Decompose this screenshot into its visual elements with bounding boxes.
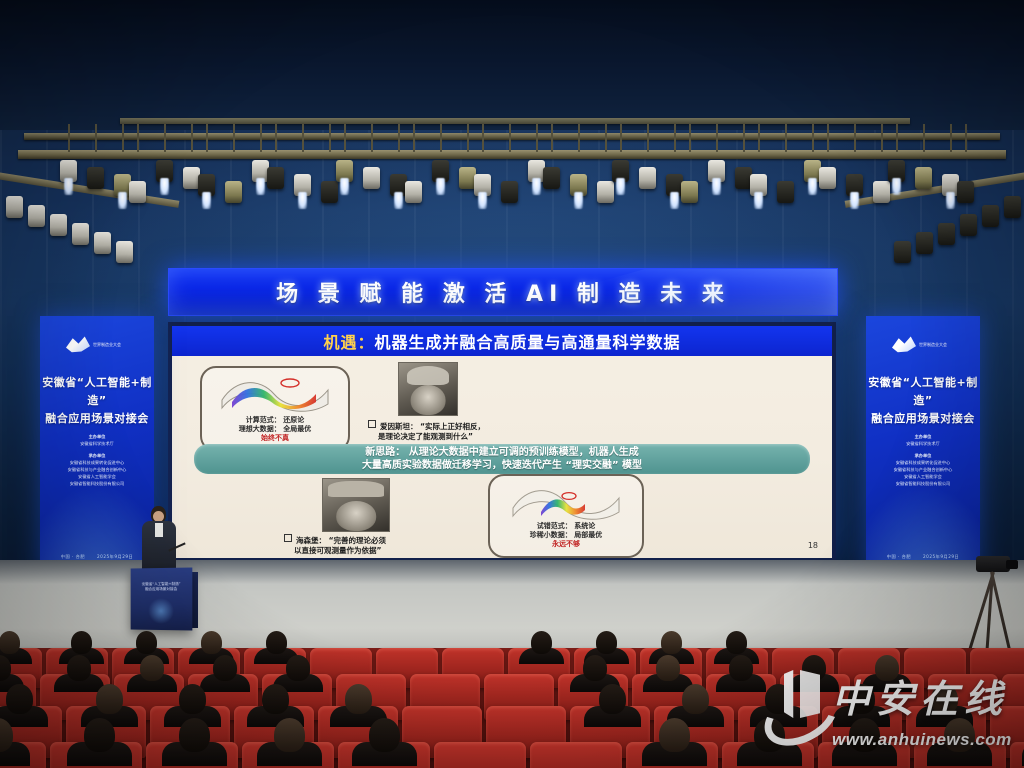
side-banner-title-line1: 安徽省“人工智能+制造” xyxy=(42,376,151,407)
led-headline-banner: 场 景 赋 能 激 活 AI 制 造 未 来 xyxy=(168,268,838,316)
stage-light xyxy=(597,181,614,203)
heisenberg-quote: 海森堡： “完善的理论必须 以直接可观测量作为依据” xyxy=(284,534,504,556)
trial-error-paradigm-box: 试错范式： 系统论 珍稀小数据： 局部最优 永远不够 xyxy=(488,474,644,558)
lamp-hanger xyxy=(620,124,622,152)
stage-light-beam xyxy=(160,178,169,195)
stage-light xyxy=(321,181,338,203)
stage-light xyxy=(87,167,104,189)
audience-member xyxy=(179,718,210,752)
conference-stage-photo: 场 景 赋 能 激 活 AI 制 造 未 来 机遇：机器生成并融合高质量与高通量… xyxy=(0,0,1024,768)
organizer-3: 安徽省人工智能学会 xyxy=(904,474,942,479)
computation-caption-1: 计算范式： 还原论 xyxy=(202,416,348,425)
lamp-hanger xyxy=(605,124,607,152)
theater-seat xyxy=(530,742,622,768)
audience-member xyxy=(140,655,164,681)
bullet-square-icon xyxy=(284,534,292,542)
lamp-hanger xyxy=(950,124,952,152)
audience-member xyxy=(0,631,20,654)
lamp-hanger xyxy=(785,124,787,152)
truss-beam-main xyxy=(18,150,1006,159)
lamp-hanger xyxy=(329,124,331,152)
stage-light xyxy=(819,167,836,189)
stage-light xyxy=(116,241,133,263)
stage-light-beam xyxy=(808,178,817,195)
lamp-hanger xyxy=(398,124,400,152)
conference-logo-icon: 世界制造业大会 xyxy=(66,332,128,356)
stage-light xyxy=(915,167,932,189)
audience-member xyxy=(262,684,289,714)
side-banner-left: 世界制造业大会 安徽省“人工智能+制造” 融合应用场景对接会 主办单位 安徽省科… xyxy=(40,316,154,574)
lamp-hanger xyxy=(467,124,469,152)
audience-member xyxy=(596,631,617,654)
lamp-hanger xyxy=(302,124,304,152)
presentation-slide: 机遇：机器生成并融合高质量与高通量科学数据 计算范式： 还原论 理想大数据： 全… xyxy=(172,326,832,558)
stage-light xyxy=(894,241,911,263)
stage-light xyxy=(777,181,794,203)
logo-subtitle: 世界制造业大会 xyxy=(93,342,121,347)
lamp-hanger xyxy=(716,124,718,152)
lamp-hanger xyxy=(137,124,139,152)
heisenberg-hat xyxy=(328,481,383,497)
side-banner-organizers: 主办单位 安徽省科学技术厅 承办单位 安徽省科技成果转化促进中心 安徽省科技与产… xyxy=(866,428,980,487)
lamp-hanger xyxy=(536,124,538,152)
slide-title: 机遇：机器生成并融合高质量与高通量科学数据 xyxy=(323,329,680,353)
podium-text: 安徽省“人工智能+制造” 融合应用场景对接会 xyxy=(131,582,193,592)
host-name: 安徽省科学技术厅 xyxy=(906,441,940,446)
podium-line2: 融合应用场景对接会 xyxy=(145,587,177,591)
stage-light-beam xyxy=(118,192,127,209)
stage-light-beam xyxy=(202,192,211,209)
trial-caption-3: 永远不够 xyxy=(490,540,642,549)
stage-light-beam xyxy=(298,192,307,209)
side-banner-organizers: 主办单位 安徽省科学技术厅 承办单位 安徽省科技成果转化促进中心 安徽省科技与产… xyxy=(40,428,154,487)
audience-member xyxy=(201,631,222,654)
stage-light-beam xyxy=(754,192,763,209)
stage-light-beam xyxy=(340,178,349,195)
lamp-hanger xyxy=(854,124,856,152)
theater-seat xyxy=(434,742,526,768)
stage-light xyxy=(639,167,656,189)
stage-light-beam xyxy=(946,192,955,209)
logo-mark xyxy=(892,335,916,353)
stage-light xyxy=(916,232,933,254)
podium-line1: 安徽省“人工智能+制造” xyxy=(142,582,181,586)
stage-light xyxy=(72,223,89,245)
podium: 安徽省“人工智能+制造” 融合应用场景对接会 xyxy=(131,567,193,630)
stage-light xyxy=(405,181,422,203)
lamp-hanger xyxy=(275,124,277,152)
computation-caption-3: 始终不真 xyxy=(202,434,348,443)
stage-light xyxy=(960,214,977,236)
lamp-hanger xyxy=(191,124,193,152)
organizer-label: 承办单位 xyxy=(866,452,980,459)
lamp-hanger xyxy=(95,124,97,152)
stage-light-beam xyxy=(256,178,265,195)
stage-light xyxy=(225,181,242,203)
side-banner-title: 安徽省“人工智能+制造” 融合应用场景对接会 xyxy=(40,374,154,428)
rainbow-surface-plot-small-icon xyxy=(507,482,625,524)
organizer-2: 安徽省科技与产业融合创新中心 xyxy=(68,467,127,472)
lamp-hanger xyxy=(827,124,829,152)
lamp-hanger xyxy=(881,124,883,152)
conference-logo-icon: 世界制造业大会 xyxy=(892,332,954,356)
lamp-hanger xyxy=(689,124,691,152)
lamp-hanger xyxy=(578,124,580,152)
stage-light-beam xyxy=(892,178,901,195)
lamp-hanger xyxy=(164,124,166,152)
slide-title-bar: 机遇：机器生成并融合高质量与高通量科学数据 xyxy=(172,326,832,356)
lamp-hanger xyxy=(440,124,442,152)
einstein-quote-line1: 爱因斯坦： “实际上正好相反， xyxy=(380,422,485,431)
audience-member xyxy=(286,655,310,681)
lamp-hanger xyxy=(647,124,649,152)
einstein-quote: 爱因斯坦： “实际上正好相反， 是理论决定了能观测到什么” xyxy=(368,420,618,442)
computation-caption-2: 理想大数据： 全局最优 xyxy=(202,425,348,434)
stage-light-beam xyxy=(478,192,487,209)
lamp-hanger xyxy=(206,124,208,152)
audience-member xyxy=(179,684,206,714)
lamp-hanger xyxy=(812,124,814,152)
audience-member xyxy=(67,655,91,681)
audience-member xyxy=(345,684,372,714)
audience-member xyxy=(661,631,682,654)
heisenberg-face xyxy=(336,501,376,531)
bullet-square-icon xyxy=(368,420,376,428)
einstein-face xyxy=(411,385,446,415)
stage-light-beam xyxy=(850,192,859,209)
host-label: 主办单位 xyxy=(866,433,980,440)
heisenberg-quote-line2: 以直接可观测量作为依据” xyxy=(294,546,381,555)
stage-light-beam xyxy=(64,178,73,195)
audience-member xyxy=(531,631,552,654)
audience-member xyxy=(659,718,690,752)
organizer-label: 承办单位 xyxy=(40,452,154,459)
lamp-hanger xyxy=(896,124,898,152)
watermark-logo-icon xyxy=(762,670,828,730)
lamp-hanger xyxy=(371,124,373,152)
stage-light xyxy=(50,214,67,236)
heisenberg-portrait xyxy=(322,478,390,532)
audience-member xyxy=(729,655,753,681)
lamp-hanger xyxy=(122,124,124,152)
lamp-hanger xyxy=(965,124,967,152)
logo-subtitle: 世界制造业大会 xyxy=(919,342,947,347)
trial-caption-2: 珍稀小数据： 局部最优 xyxy=(490,531,642,540)
side-banner-title-line2: 融合应用场景对接会 xyxy=(45,412,149,425)
rainbow-surface-plot-icon xyxy=(216,374,334,416)
stage-light xyxy=(938,223,955,245)
audience-member xyxy=(726,631,747,654)
audience-member xyxy=(274,718,305,752)
lamp-hanger xyxy=(551,124,553,152)
lamp-hanger xyxy=(509,124,511,152)
logo-mark xyxy=(66,335,90,353)
slide-title-keyword: 机遇： xyxy=(323,333,374,352)
stage-light xyxy=(129,181,146,203)
camera-lens-icon xyxy=(1006,560,1018,569)
audience-member xyxy=(84,718,115,752)
audience-member xyxy=(656,655,680,681)
lamp-hanger xyxy=(260,124,262,152)
stage-light-beam xyxy=(712,178,721,195)
new-approach-line2: 大量高质实验数据做迁移学习，快速迭代产生 “理实交融” 模型 xyxy=(362,460,642,471)
slide-title-rest: 机器生成并融合高质量与高通量科学数据 xyxy=(375,333,681,352)
einstein-portrait xyxy=(398,362,458,416)
podium-emblem xyxy=(148,598,174,624)
stage-light xyxy=(982,205,999,227)
watermark-brand: 中安在线 xyxy=(832,668,1008,723)
organizer-2: 安徽省科技与产业融合创新中心 xyxy=(894,467,953,472)
lamp-hanger xyxy=(413,124,415,152)
watermark: 中安在线 www.anhuinews.com xyxy=(762,668,1008,752)
stage-light xyxy=(957,181,974,203)
side-banner-right: 世界制造业大会 安徽省“人工智能+制造” 融合应用场景对接会 主办单位 安徽省科… xyxy=(866,316,980,574)
watermark-url: www.anhuinews.com xyxy=(832,730,1012,750)
lamp-hanger xyxy=(743,124,745,152)
host-label: 主办单位 xyxy=(40,433,154,440)
speaker-shirt xyxy=(155,523,163,537)
stage-light xyxy=(501,181,518,203)
stage-light-beam xyxy=(394,192,403,209)
slide-page-number: 18 xyxy=(808,541,818,550)
stage-light-beam xyxy=(616,178,625,195)
stage-light xyxy=(363,167,380,189)
einstein-hair xyxy=(407,366,449,385)
new-approach-text: 新思路： 从理论大数据中建立可调的预训练模型，机器人生成 大量高质实验数据做迁移… xyxy=(362,446,642,472)
stage-light xyxy=(543,167,560,189)
lamp-hanger xyxy=(344,124,346,152)
lighting-truss xyxy=(0,0,1024,240)
side-banner-title-line1: 安徽省“人工智能+制造” xyxy=(868,376,977,407)
watermark-book-right xyxy=(800,670,820,718)
lamp-hanger xyxy=(923,124,925,152)
audience-member xyxy=(266,631,287,654)
audience-member xyxy=(213,655,237,681)
lamp-hanger xyxy=(674,124,676,152)
stage-light xyxy=(94,232,111,254)
stage-light xyxy=(267,167,284,189)
headline-text: 场 景 赋 能 激 活 AI 制 造 未 来 xyxy=(169,269,837,315)
audience-member xyxy=(6,684,33,714)
trial-caption-1: 试错范式： 系统论 xyxy=(490,522,642,531)
stage-light xyxy=(1004,196,1021,218)
heisenberg-quote-line1: 海森堡： “完善的理论必须 xyxy=(296,536,386,545)
stage-light xyxy=(873,181,890,203)
new-approach-line1: 新思路： 从理论大数据中建立可调的预训练模型，机器人生成 xyxy=(365,447,638,458)
stage-light-beam xyxy=(670,192,679,209)
audience-member xyxy=(682,684,709,714)
stage-light xyxy=(28,205,45,227)
speaker-person xyxy=(142,506,176,572)
audience-member xyxy=(369,718,400,752)
audience-member xyxy=(599,684,626,714)
stage-light-beam xyxy=(532,178,541,195)
audience-member xyxy=(136,631,157,654)
audience-member xyxy=(71,631,92,654)
lamp-hanger xyxy=(233,124,235,152)
stage-light-beam xyxy=(436,178,445,195)
stage-light-beam xyxy=(574,192,583,209)
einstein-quote-line2: 是理论决定了能观测到什么” xyxy=(378,432,473,441)
stage-light xyxy=(681,181,698,203)
video-camera-icon xyxy=(976,556,1010,572)
side-banner-title-line2: 融合应用场景对接会 xyxy=(871,412,975,425)
host-name: 安徽省科学技术厅 xyxy=(80,441,114,446)
organizer-1: 安徽省科技成果转化促进中心 xyxy=(70,460,124,465)
truss-rail-right xyxy=(845,171,1024,208)
stage-light xyxy=(6,196,23,218)
organizer-3: 安徽省人工智能学会 xyxy=(78,474,116,479)
lamp-hanger xyxy=(758,124,760,152)
organizer-1: 安徽省科技成果转化促进中心 xyxy=(896,460,950,465)
new-approach-band: 新思路： 从理论大数据中建立可调的预训练模型，机器人生成 大量高质实验数据做迁移… xyxy=(194,444,810,474)
audience-member xyxy=(96,684,123,714)
audience-member xyxy=(583,655,607,681)
lamp-hanger xyxy=(482,124,484,152)
computation-paradigm-box: 计算范式： 还原论 理想大数据： 全局最优 始终不真 xyxy=(200,366,350,452)
side-banner-title: 安徽省“人工智能+制造” 融合应用场景对接会 xyxy=(866,374,980,428)
truss-beam-top xyxy=(120,118,910,124)
lamp-hanger xyxy=(68,124,70,152)
